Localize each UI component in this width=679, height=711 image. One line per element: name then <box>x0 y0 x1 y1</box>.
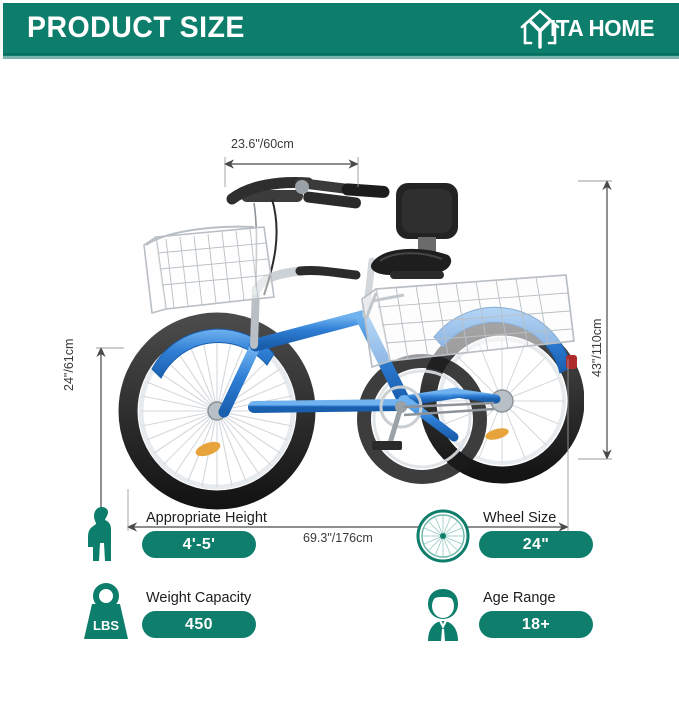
weight-lbs-icon: LBS <box>78 583 134 645</box>
spec-label: Appropriate Height <box>142 510 267 526</box>
spec-label: Age Range <box>479 590 556 606</box>
spec-appropriate-height: Appropriate Height 4'-5' <box>78 503 267 565</box>
page-title: PRODUCT SIZE <box>27 11 245 45</box>
header-rule-dark <box>3 53 679 55</box>
person-bust-icon <box>415 583 471 645</box>
standing-person-icon <box>78 503 134 565</box>
spec-weight-capacity: LBS Weight Capacity 450 <box>78 583 256 645</box>
spec-grid: Appropriate Height 4'-5' <box>0 495 679 652</box>
brand-logo: ITA HOME <box>518 7 663 49</box>
spec-value-pill[interactable]: 24" <box>479 531 593 558</box>
product-diagram: 23.6"/60cm 69.3"/176cm 24"/61cm 43"/110c… <box>0 59 679 489</box>
svg-text:LBS: LBS <box>93 618 119 633</box>
spec-value-pill[interactable]: 450 <box>142 611 256 638</box>
brand-name: ITA HOME <box>550 15 654 42</box>
spec-wheel-size: Wheel Size 24" <box>415 503 593 565</box>
tricycle-illustration <box>104 169 584 519</box>
bicycle-wheel-icon <box>415 503 471 565</box>
spec-label: Weight Capacity <box>142 590 251 606</box>
dimension-wheel-height: 24"/61cm <box>62 339 76 391</box>
page-header: PRODUCT SIZE ITA HOME <box>0 0 679 59</box>
spec-label: Wheel Size <box>479 510 556 526</box>
spec-value-pill[interactable]: 18+ <box>479 611 593 638</box>
spec-value-pill[interactable]: 4'-5' <box>142 531 256 558</box>
dimension-handlebar-width: 23.6"/60cm <box>231 137 294 151</box>
dimension-overall-height: 43"/110cm <box>590 319 604 377</box>
spec-age-range: Age Range 18+ <box>415 583 593 645</box>
